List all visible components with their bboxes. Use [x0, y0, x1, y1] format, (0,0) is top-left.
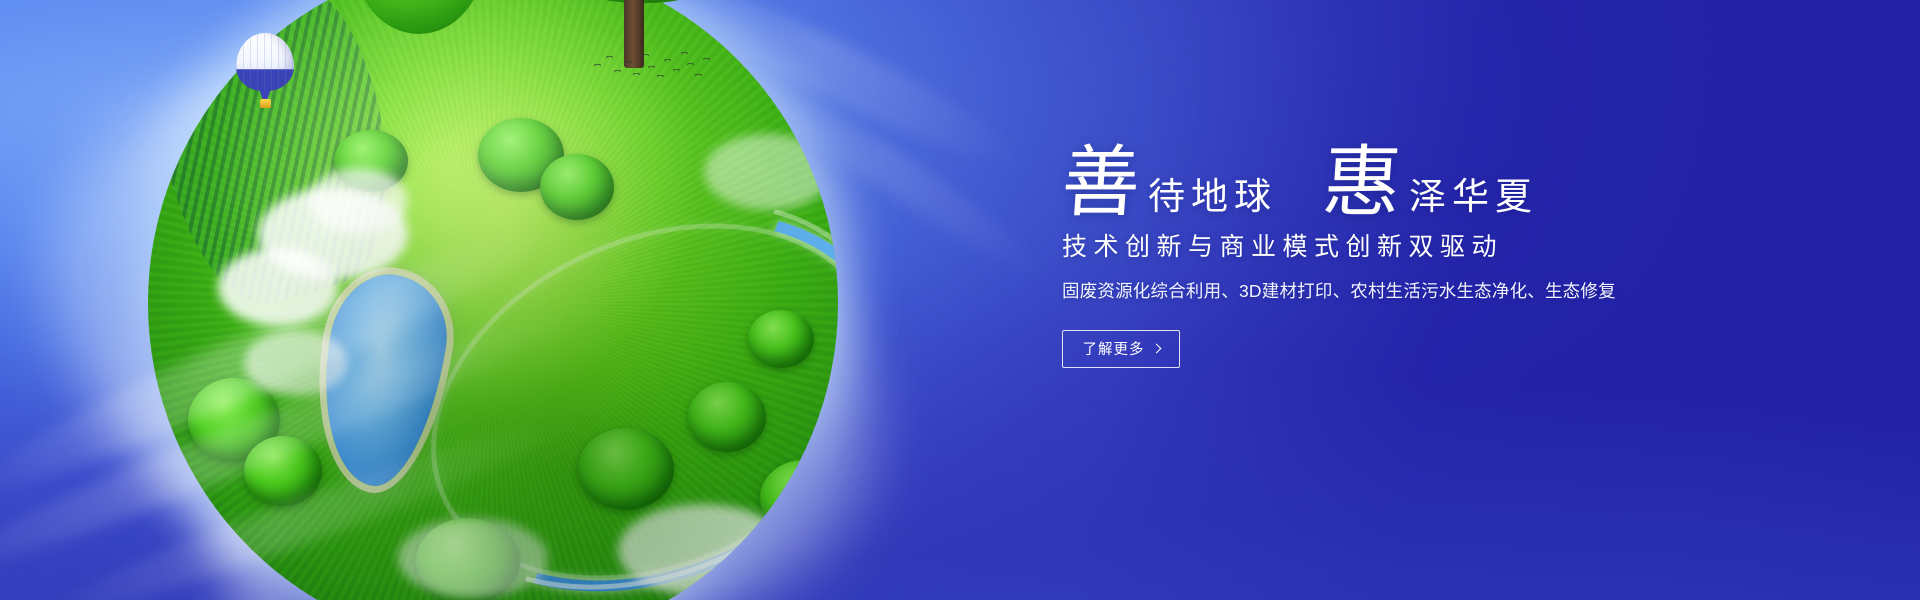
headline-big-char-1: 善 [1059, 146, 1142, 220]
headline-big-char-2: 惠 [1320, 146, 1403, 220]
balloon-neck [259, 89, 271, 99]
learn-more-button[interactable]: 了解更多 [1062, 330, 1180, 368]
chevron-right-icon [1151, 344, 1161, 354]
headline-group-2: 惠 泽华夏 [1323, 146, 1538, 220]
tree-canopy [354, 0, 484, 34]
description: 固废资源化综合利用、3D建材打印、农村生活污水生态净化、生态修复 [1062, 279, 1822, 304]
hero-copy: 善 待地球 惠 泽华夏 技术创新与商业模式创新双驱动 固废资源化综合利用、3D建… [1062, 128, 1822, 368]
headline-small-text-2: 泽华夏 [1409, 179, 1538, 216]
page-title: 善 待地球 惠 泽华夏 [1062, 128, 1822, 220]
balloon-envelope [236, 33, 294, 91]
bird-flock-icon [592, 50, 712, 86]
learn-more-label: 了解更多 [1083, 338, 1145, 359]
headline-small-text-1: 待地球 [1148, 179, 1277, 216]
hot-air-balloon-icon [236, 33, 294, 111]
balloon-basket [260, 99, 271, 108]
headline-group-1: 善 待地球 [1062, 146, 1277, 220]
foreground-tree-icon [520, 0, 760, 48]
hero-banner: 善 待地球 惠 泽华夏 技术创新与商业模式创新双驱动 固废资源化综合利用、3D建… [0, 0, 1920, 600]
subtitle: 技术创新与商业模式创新双驱动 [1062, 232, 1822, 263]
tree-icon [354, 0, 484, 34]
